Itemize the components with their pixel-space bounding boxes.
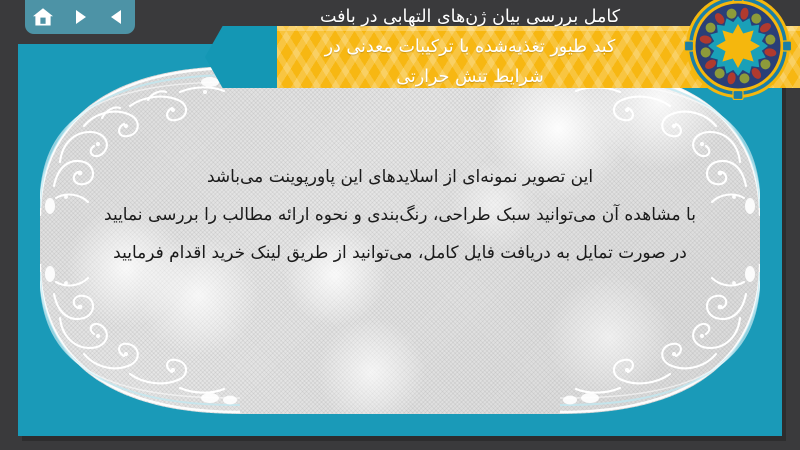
arabesque-corner-ornament-bottom-left [40,264,240,414]
triangle-left-icon [108,8,126,26]
slide-navigation-bar [25,0,135,34]
home-button[interactable] [30,5,56,29]
page-title: کامل بررسی بیان ژن‌های التهابی در بافت ک… [245,2,695,92]
previous-slide-button[interactable] [104,5,130,29]
triangle-right-icon [71,8,89,26]
slide-body-line-1: این تصویر نمونه‌ای از اسلایدهای این پاور… [80,158,720,196]
slide-body-text: این تصویر نمونه‌ای از اسلایدهای این پاور… [80,158,720,272]
slide-body-line-3: در صورت تمایل به دریافت فایل کامل، می‌تو… [80,234,720,272]
slide-body-line-2: با مشاهده آن می‌توانید سبک طراحی، رنگ‌بن… [80,196,720,234]
arabesque-corner-ornament-bottom-right [560,264,760,414]
presentation-viewer: کامل بررسی بیان ژن‌های التهابی در بافت ک… [0,0,800,450]
islamic-medallion-ornament [684,0,792,100]
home-icon [32,7,54,27]
slide-frame: این تصویر نمونه‌ای از اسلایدهای این پاور… [18,44,782,436]
slide-content-area: این تصویر نمونه‌ای از اسلایدهای این پاور… [40,66,760,414]
next-slide-button[interactable] [67,5,93,29]
